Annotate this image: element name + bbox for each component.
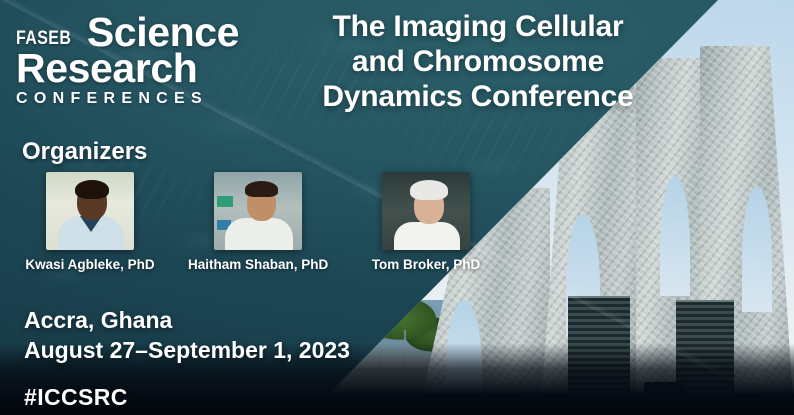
avatar: [382, 172, 470, 250]
title-line-3: Dynamics Conference: [258, 80, 698, 115]
avatar: [214, 172, 302, 250]
organizer-card: Haitham Shaban, PhD: [188, 172, 328, 272]
event-location-dates: Accra, Ghana August 27–September 1, 2023: [24, 306, 350, 366]
event-location: Accra, Ghana: [24, 306, 350, 336]
avatar: [46, 172, 134, 250]
title-line-1: The Imaging Cellular: [258, 10, 698, 45]
conference-poster: FASEB Science Research CONFERENCES The I…: [0, 0, 794, 415]
logo-research-word: Research: [16, 50, 246, 88]
organizers-list: Kwasi Agbleke, PhD Haitham Shaban, PhD T…: [20, 172, 496, 272]
organizer-card: Kwasi Agbleke, PhD: [20, 172, 160, 272]
page-title: The Imaging Cellular and Chromosome Dyna…: [258, 10, 698, 114]
event-dates: August 27–September 1, 2023: [24, 336, 350, 366]
logo-faseb-abbr: FASEB: [16, 29, 71, 52]
organizer-card: Tom Broker, PhD: [356, 172, 496, 272]
organizer-name: Kwasi Agbleke, PhD: [20, 257, 160, 272]
logo-conferences-word: CONFERENCES: [16, 90, 246, 108]
organizers-heading: Organizers: [22, 138, 147, 166]
organizer-name: Haitham Shaban, PhD: [188, 257, 328, 272]
organizer-name: Tom Broker, PhD: [356, 257, 496, 272]
event-hashtag: #ICCSRC: [24, 384, 128, 411]
title-line-2: and Chromosome: [258, 45, 698, 80]
faseb-logo: FASEB Science Research CONFERENCES: [16, 14, 246, 108]
